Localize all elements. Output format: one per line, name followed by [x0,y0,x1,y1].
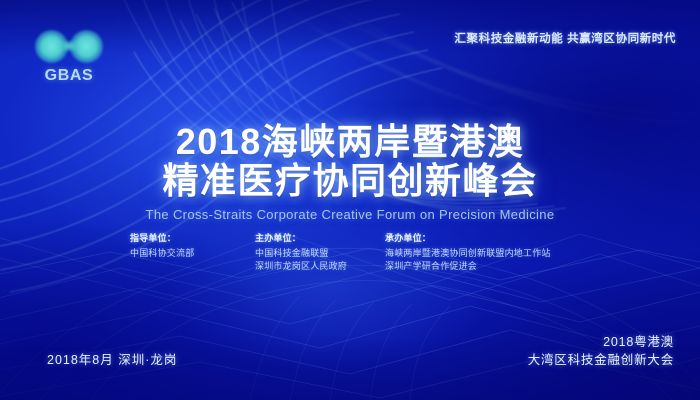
title-subtitle-english: The Cross-Straits Corporate Creative For… [0,207,700,222]
organizer-item: 深圳市龙岗区人民政府 [255,260,385,273]
conference-poster: GBAS 汇聚科技金融新动能 共赢湾区协同新时代 2018海峡两岸暨港澳 精准医… [0,0,700,400]
organizer-item: 海峡两岸暨港澳协同创新联盟内地工作站 [385,247,605,260]
gbas-logo-text: GBAS [33,67,105,85]
title-line-2: 精准医疗协同创新峰会 [0,161,700,200]
organizer-column-host: 主办单位： 中国科技金融联盟 深圳市龙岗区人民政府 [255,231,385,273]
organizer-heading: 主办单位： [255,231,385,244]
organizer-column-guidance: 指导单位： 中国科协交流部 [130,231,255,273]
title-line-1: 2018海峡两岸暨港澳 [0,122,700,161]
gbas-logo: GBAS [33,26,105,85]
organizer-item: 中国科协交流部 [130,247,255,260]
organizer-item: 深圳产学研合作促进会 [385,260,605,273]
footer-series-line-2: 大湾区科技金融创新大会 [528,351,674,369]
footer-series-line-1: 2018粤港澳 [528,333,674,351]
organizer-heading: 指导单位： [130,231,255,244]
organizer-list: 指导单位： 中国科协交流部 主办单位： 中国科技金融联盟 深圳市龙岗区人民政府 … [130,231,605,273]
footer-date-location: 2018年8月 深圳·龙岗 [47,349,177,368]
organizer-item: 中国科技金融联盟 [255,247,385,260]
header-tagline: 汇聚科技金融新动能 共赢湾区协同新时代 [454,30,676,46]
gbas-bowtie-icon [33,26,105,66]
title-block: 2018海峡两岸暨港澳 精准医疗协同创新峰会 The Cross-Straits… [0,122,700,222]
organizer-column-undertaker: 承办单位： 海峡两岸暨港澳协同创新联盟内地工作站 深圳产学研合作促进会 [385,231,605,273]
organizer-heading: 承办单位： [385,231,605,244]
footer-event-series: 2018粤港澳 大湾区科技金融创新大会 [528,333,674,369]
